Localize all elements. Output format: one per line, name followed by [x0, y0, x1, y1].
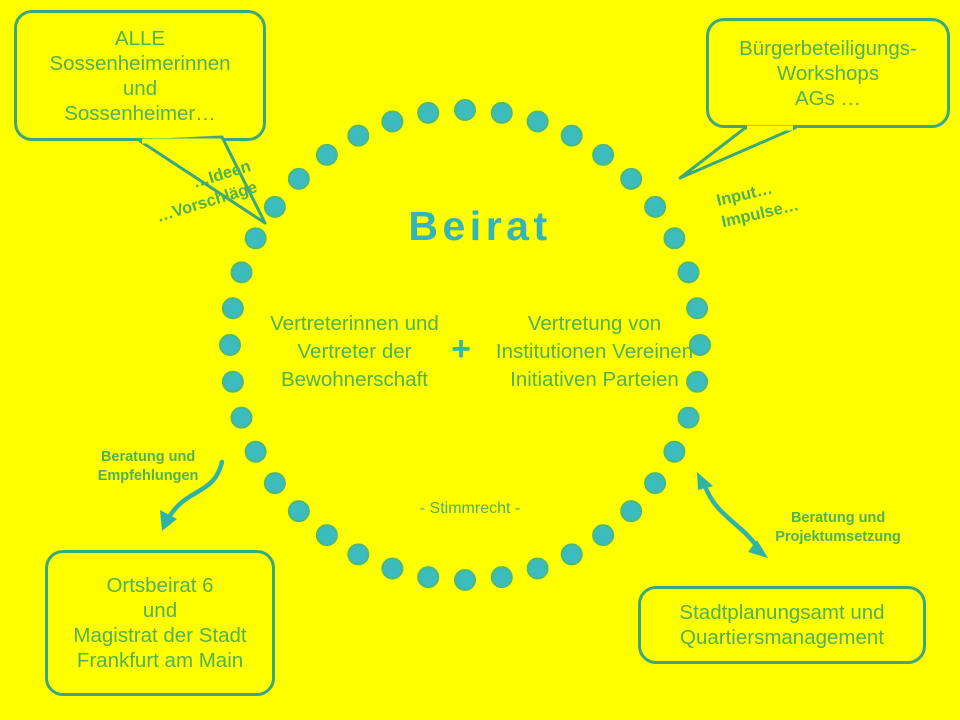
- box-stadtplanung: Stadtplanungsamt und Quartiersmanagement: [638, 586, 926, 664]
- callout-workshops: Bürgerbeteiligungs- Workshops AGs …: [706, 18, 950, 128]
- circle-dot: [382, 112, 402, 132]
- circle-dot: [232, 408, 252, 428]
- circle-dot: [220, 335, 240, 355]
- callout-citizens: ALLE Sossenheimerinnen und Sossenheimer…: [14, 10, 266, 141]
- circle-dot: [317, 145, 337, 165]
- label-beratung-projektumsetzung-line-2: Projektumsetzung: [775, 529, 901, 545]
- label-beratung-empfehlungen: Beratung und Empfehlungen: [70, 428, 210, 506]
- circle-dot: [455, 100, 475, 120]
- box-ortsbeirat-line-2: und: [143, 598, 177, 623]
- circle-dot: [664, 442, 684, 462]
- callout-citizens-line-3: und: [123, 76, 157, 101]
- center-right-line-4: Vereinen: [612, 340, 693, 363]
- center-right-line-5: Initiativen: [510, 368, 597, 391]
- circle-dot: [679, 408, 699, 428]
- box-ortsbeirat: Ortsbeirat 6 und Magistrat der Stadt Fra…: [45, 550, 275, 696]
- callout-workshops-line-3: AGs …: [795, 86, 861, 111]
- label-beratung-empfehlungen-line-2: Empfehlungen: [98, 468, 199, 484]
- center-right-line-1: Vertretung: [528, 312, 623, 335]
- center-right-line-6: Parteien: [602, 368, 678, 391]
- circle-dot: [528, 112, 548, 132]
- callout-citizens-line-4: Sossenheimer…: [64, 101, 216, 126]
- circle-dot: [232, 262, 252, 282]
- box-ortsbeirat-line-3: Magistrat der Stadt: [73, 623, 246, 648]
- circle-dot: [418, 567, 438, 587]
- box-ortsbeirat-line-4: Frankfurt am Main: [77, 648, 243, 673]
- circle-dot: [528, 559, 548, 579]
- box-stadtplanung-line-1: Stadtplanungsamt und: [679, 600, 884, 625]
- circle-dot: [265, 473, 285, 493]
- circle-dot: [679, 262, 699, 282]
- center-left-line-1: Vertreterinnen: [270, 312, 399, 335]
- circle-dot: [645, 473, 665, 493]
- center-right-line-2: von: [628, 312, 661, 335]
- label-beratung-projektumsetzung-line-1: Beratung und: [791, 510, 885, 526]
- circle-dot: [289, 501, 309, 521]
- circle-dot: [562, 126, 582, 146]
- circle-dot: [593, 525, 613, 545]
- circle-dot: [348, 544, 368, 564]
- center-right-line-3: Institutionen: [496, 340, 607, 363]
- center-left-line-4: Bewohnerschaft: [281, 368, 428, 391]
- diagram-canvas: Beirat Vertreterinnen und Vertreter der …: [0, 0, 960, 720]
- circle-dot: [455, 570, 475, 590]
- box-stadtplanung-line-2: Quartiersmanagement: [680, 625, 884, 650]
- box-ortsbeirat-line-1: Ortsbeirat 6: [106, 573, 213, 598]
- center-right-column: Vertretung von Institutionen Vereinen In…: [492, 310, 697, 394]
- center-left-line-3: der: [382, 340, 412, 363]
- callout-citizens-line-1: ALLE: [115, 26, 165, 51]
- circle-dot: [289, 169, 309, 189]
- arrow-beratung-projektumsetzung-head-up: [697, 472, 713, 490]
- arrow-beratung-empfehlungen-head: [160, 510, 177, 531]
- circle-dot: [593, 145, 613, 165]
- label-beratung-projektumsetzung: Beratung und Projektumsetzung: [740, 489, 920, 567]
- circle-dot: [317, 525, 337, 545]
- circle-dot: [492, 567, 512, 587]
- circle-dot: [492, 103, 512, 123]
- callout-citizens-line-2: Sossenheimerinnen: [49, 51, 230, 76]
- circle-dot: [348, 126, 368, 146]
- circle-dot: [223, 372, 243, 392]
- plus-icon: +: [441, 330, 481, 369]
- voting-rights-note: - Stimmrecht -: [330, 500, 610, 518]
- circle-dot: [382, 559, 402, 579]
- circle-dot: [418, 103, 438, 123]
- circle-dot: [621, 501, 641, 521]
- circle-dot: [223, 298, 243, 318]
- circle-dot: [246, 442, 266, 462]
- callout-workshops-line-2: Workshops: [777, 61, 879, 86]
- circle-dot: [621, 169, 641, 189]
- center-left-column: Vertreterinnen und Vertreter der Bewohne…: [252, 310, 457, 394]
- callout-workshops-line-1: Bürgerbeteiligungs-: [739, 36, 917, 61]
- label-beratung-empfehlungen-line-1: Beratung und: [101, 449, 195, 465]
- circle-dot: [562, 544, 582, 564]
